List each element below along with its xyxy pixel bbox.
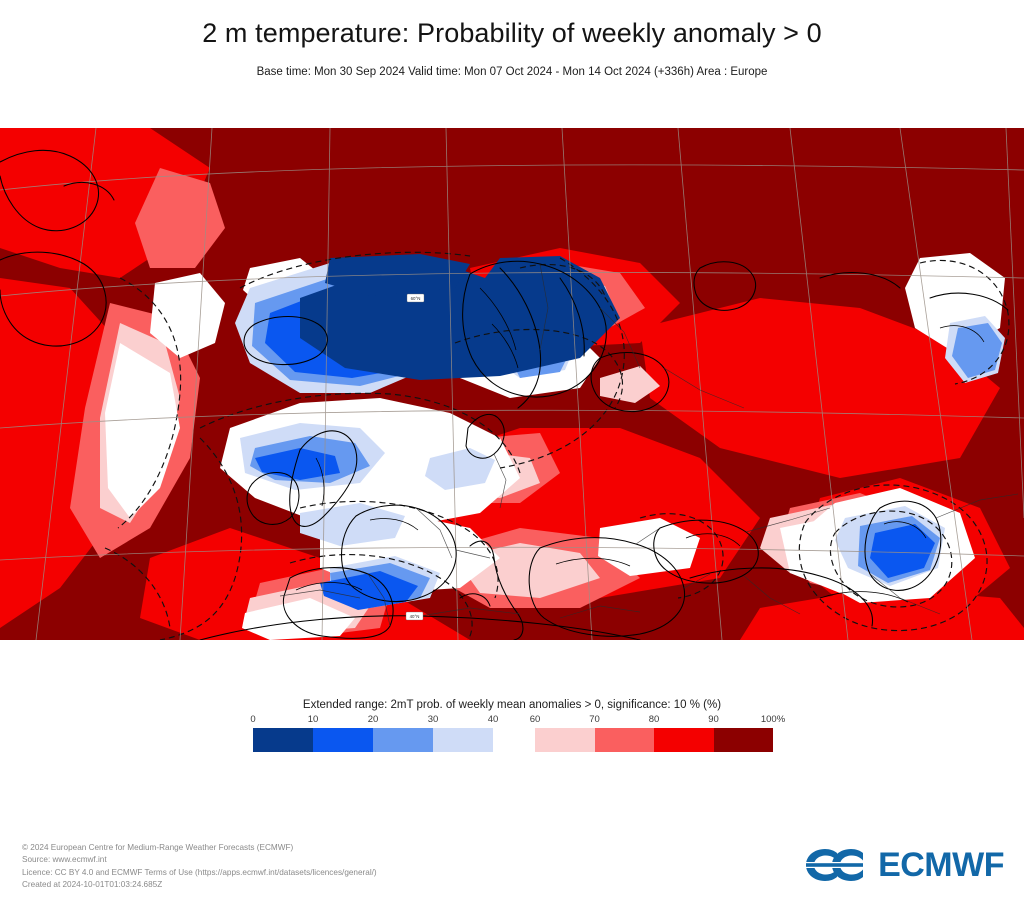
- colorbar-tick: 20: [368, 714, 379, 725]
- footer-licence: Licence: CC BY 4.0 and ECMWF Terms of Us…: [22, 867, 662, 879]
- colorbar-segment: [433, 728, 493, 752]
- colorbar-low-probability: 0 10 20 30 40: [253, 714, 493, 758]
- colorbar-blue-ticks: 0 10 20 30 40: [253, 714, 493, 728]
- colorbar-caption: Extended range: 2mT prob. of weekly mean…: [0, 699, 1024, 711]
- footer-attribution: © 2024 European Centre for Medium-Range …: [22, 842, 662, 891]
- ecmwf-interlocking-c-icon: [805, 845, 871, 885]
- colorbar-red-bar: [535, 728, 773, 752]
- colorbar-segment: [313, 728, 373, 752]
- colorbar-segment: [714, 728, 774, 752]
- graticule-label-mid: 40°N: [406, 612, 423, 620]
- graticule-label-north: 60°N: [407, 294, 424, 302]
- colorbar-blue-bar: [253, 728, 493, 752]
- footer-created-at: Created at 2024-10-01T01:03:24.685Z: [22, 879, 662, 891]
- colorbar-tick: 30: [428, 714, 439, 725]
- colorbar-segment: [253, 728, 313, 752]
- page-title: 2 m temperature: Probability of weekly a…: [0, 18, 1024, 49]
- colorbar-tick: 90: [708, 714, 719, 725]
- colorbar: 0 10 20 30 40 60 70 80 90 100%: [0, 714, 1024, 758]
- svg-text:40°N: 40°N: [410, 614, 420, 619]
- colorbar-tick: 100%: [761, 714, 785, 725]
- colorbar-tick: 10: [308, 714, 319, 725]
- forecast-chart-page: 2 m temperature: Probability of weekly a…: [0, 0, 1024, 921]
- svg-text:60°N: 60°N: [411, 296, 421, 301]
- ecmwf-logo-text: ECMWF: [878, 846, 1004, 885]
- colorbar-segment: [654, 728, 714, 752]
- forecast-map[interactable]: 60°N 40°N: [0, 128, 1024, 640]
- colorbar-red-ticks: 60 70 80 90 100%: [535, 714, 773, 728]
- map-canvas: 60°N 40°N: [0, 128, 1024, 640]
- forecast-metadata-subtitle: Base time: Mon 30 Sep 2024 Valid time: M…: [0, 66, 1024, 78]
- footer-copyright: © 2024 European Centre for Medium-Range …: [22, 842, 662, 854]
- colorbar-segment: [373, 728, 433, 752]
- colorbar-tick: 60: [530, 714, 541, 725]
- colorbar-tick: 80: [649, 714, 660, 725]
- colorbar-high-probability: 60 70 80 90 100%: [535, 714, 773, 758]
- colorbar-segment: [535, 728, 595, 752]
- colorbar-tick: 0: [250, 714, 255, 725]
- colorbar-tick: 70: [589, 714, 600, 725]
- colorbar-segment: [595, 728, 655, 752]
- ecmwf-logo: ECMWF: [805, 842, 1004, 888]
- footer-source: Source: www.ecmwf.int: [22, 854, 662, 866]
- colorbar-tick: 40: [488, 714, 499, 725]
